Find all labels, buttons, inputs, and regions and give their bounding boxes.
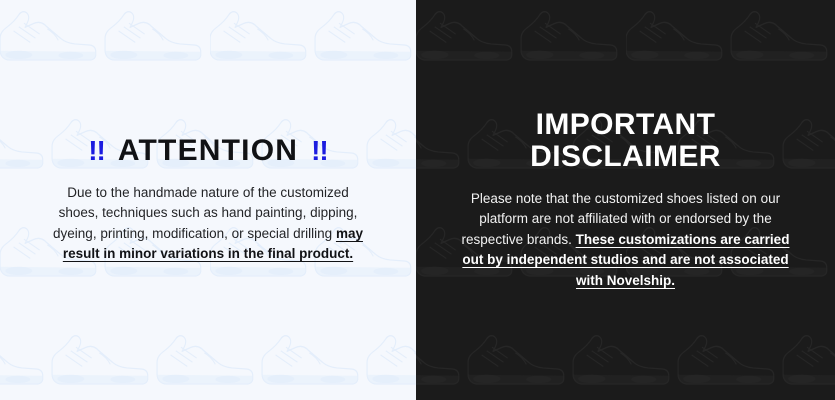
- attention-body-text: Due to the handmade nature of the custom…: [48, 183, 368, 265]
- disclaimer-body-text: Please note that the customized shoes li…: [461, 189, 791, 292]
- attention-content: !! ATTENTION !! Due to the handmade natu…: [0, 0, 416, 400]
- attention-heading-word: ATTENTION: [118, 135, 298, 167]
- disclaimer-content: IMPORTANT DISCLAIMER Please note that th…: [416, 0, 835, 400]
- double-exclamation-right-icon: !!: [311, 136, 328, 165]
- attention-panel: !! ATTENTION !! Due to the handmade natu…: [0, 0, 416, 400]
- attention-body-normal: Due to the handmade nature of the custom…: [53, 185, 357, 241]
- attention-heading: !! ATTENTION !!: [88, 135, 328, 167]
- disclaimer-heading-line2: DISCLAIMER: [530, 141, 721, 173]
- disclaimer-panel: IMPORTANT DISCLAIMER Please note that th…: [416, 0, 835, 400]
- disclaimer-heading: IMPORTANT DISCLAIMER: [530, 109, 721, 173]
- double-exclamation-left-icon: !!: [88, 136, 105, 165]
- disclaimer-heading-line1: IMPORTANT: [530, 109, 721, 141]
- customization-notice-banner: !! ATTENTION !! Due to the handmade natu…: [0, 0, 835, 400]
